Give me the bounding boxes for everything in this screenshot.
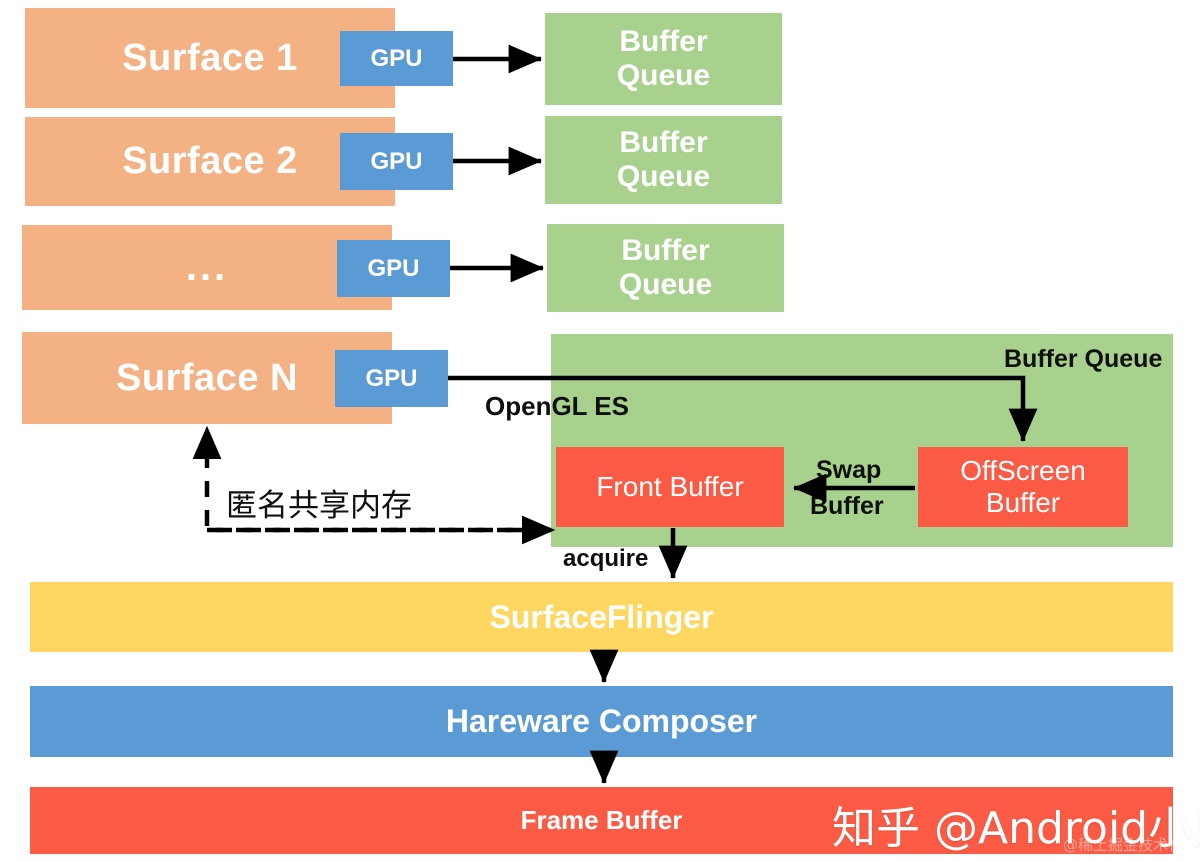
gpu-chip-2: GPU <box>340 133 453 190</box>
surface-label: Surface 1 <box>122 37 298 80</box>
swap-buffer-label-line-2: Buffer <box>810 491 884 522</box>
gpu-chip-1: GPU <box>340 31 453 86</box>
buffer-queue-line-1: Buffer <box>619 126 707 160</box>
buffer-queue-line-2: Queue <box>619 268 712 302</box>
gpu-label: GPU <box>367 255 419 283</box>
buffer-queue-line-2: Queue <box>617 160 710 194</box>
shared-memory-label: 匿名共享内存 <box>226 480 412 525</box>
buffer-queue-box-1: Buffer Queue <box>545 13 782 105</box>
big-buffer-queue-label: Buffer Queue <box>1004 345 1162 374</box>
buffer-queue-line-1: Buffer <box>619 25 707 59</box>
opengl-es-label: OpenGL ES <box>485 391 629 422</box>
surface-label: Surface 2 <box>122 140 298 183</box>
gpu-chip-n: GPU <box>335 350 448 407</box>
acquire-label: acquire <box>563 545 648 573</box>
buffer-queue-box-3: Buffer Queue <box>547 224 784 312</box>
swap-buffer-label-line-1: Swap <box>816 455 881 486</box>
surface-label: Surface N <box>116 357 298 400</box>
frame-buffer-label: Frame Buffer <box>521 805 683 836</box>
surfaceflinger-label: SurfaceFlinger <box>489 599 713 636</box>
front-buffer-label: Front Buffer <box>596 471 743 503</box>
gpu-label: GPU <box>370 148 422 176</box>
buffer-queue-line-2: Queue <box>617 59 710 93</box>
watermark-subtext: @稀土掘金技术社区 <box>1063 834 1198 855</box>
diagram-canvas: Surface 1 GPU Surface 2 GPU ... GPU Surf… <box>0 0 1200 861</box>
gpu-label: GPU <box>370 45 422 73</box>
gpu-label: GPU <box>365 365 417 393</box>
buffer-queue-line-1: Buffer <box>621 234 709 268</box>
front-buffer-box: Front Buffer <box>556 447 784 527</box>
offscreen-buffer-line-1: OffScreen <box>960 455 1086 487</box>
hardware-composer-label: Hareware Composer <box>446 703 757 740</box>
hardware-composer-bar: Hareware Composer <box>30 686 1173 757</box>
gpu-chip-3: GPU <box>337 240 450 297</box>
surfaceflinger-bar: SurfaceFlinger <box>30 582 1173 652</box>
offscreen-buffer-box: OffScreen Buffer <box>918 447 1128 527</box>
surface-label: ... <box>186 245 228 290</box>
offscreen-buffer-line-2: Buffer <box>986 487 1060 519</box>
buffer-queue-box-2: Buffer Queue <box>545 116 782 204</box>
